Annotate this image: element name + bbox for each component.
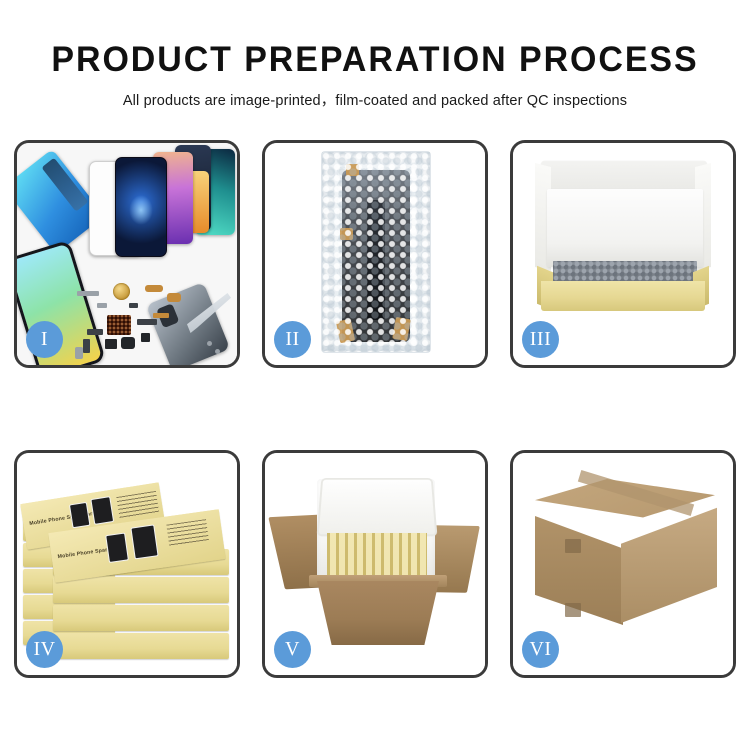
box-screen-print-2 xyxy=(90,496,114,525)
process-panel-3: III xyxy=(510,140,736,368)
retail-boxes-inside xyxy=(327,533,427,575)
wrapped-flex-strip xyxy=(367,200,385,320)
page-header: PRODUCT PREPARATION PROCESS All products… xyxy=(0,0,750,110)
stack-box-r4 xyxy=(53,633,229,659)
panel-badge-3: III xyxy=(522,321,559,358)
panel-badge-5: V xyxy=(274,631,311,668)
process-panel-2: II xyxy=(262,140,488,368)
screw-grid-chip xyxy=(107,315,131,335)
process-panel-4: Mobile Phone Spare Parts Mobile Phone Sp… xyxy=(14,450,240,678)
box-front-panel xyxy=(541,281,705,311)
process-panel-1: I xyxy=(14,140,240,368)
speaker-coil xyxy=(113,283,130,300)
flex-cable-1 xyxy=(145,285,163,292)
component-chip-4 xyxy=(121,337,135,349)
page-title: PRODUCT PREPARATION PROCESS xyxy=(11,42,739,79)
process-panel-6: VI xyxy=(510,450,736,678)
stack-box-r2 xyxy=(53,577,229,603)
box-screen-print-1 xyxy=(69,502,91,529)
box-screen-print-4 xyxy=(130,524,158,559)
tape-piece-1 xyxy=(346,164,359,176)
carton-handle-tab-bottom xyxy=(565,603,581,617)
component-chip-8 xyxy=(97,303,107,308)
screw-2 xyxy=(215,349,220,354)
component-chip-2 xyxy=(83,339,90,353)
box-screen-print-3 xyxy=(105,533,129,564)
phone-blue-screen xyxy=(115,157,167,257)
panel-badge-4: IV xyxy=(26,631,63,668)
screw-1 xyxy=(207,341,212,346)
tape-piece-2 xyxy=(340,228,353,240)
component-chip-1 xyxy=(87,329,103,335)
bubble-wrap-bag xyxy=(321,151,431,353)
panel-badge-2: II xyxy=(274,321,311,358)
carton-handle-tab-top xyxy=(565,539,581,553)
process-panel-grid: I II xyxy=(14,140,736,678)
component-chip-9 xyxy=(129,303,138,308)
panel-badge-6: VI xyxy=(522,631,559,668)
component-chip-5 xyxy=(75,347,83,359)
component-chip-7 xyxy=(141,333,150,342)
flex-cable-2 xyxy=(167,293,181,302)
process-panel-5: V xyxy=(262,450,488,678)
white-foam-insert xyxy=(547,189,703,267)
component-bar xyxy=(77,291,99,296)
panel-badge-1: I xyxy=(26,321,63,358)
stack-box-r3 xyxy=(53,605,229,631)
foam-box-lid xyxy=(317,478,438,536)
carton-body xyxy=(317,581,439,645)
component-chip-6 xyxy=(137,319,157,325)
component-chip-3 xyxy=(105,339,117,349)
page-subtitle: All products are image-printed，film-coat… xyxy=(0,89,750,110)
flex-cable-3 xyxy=(153,313,169,318)
